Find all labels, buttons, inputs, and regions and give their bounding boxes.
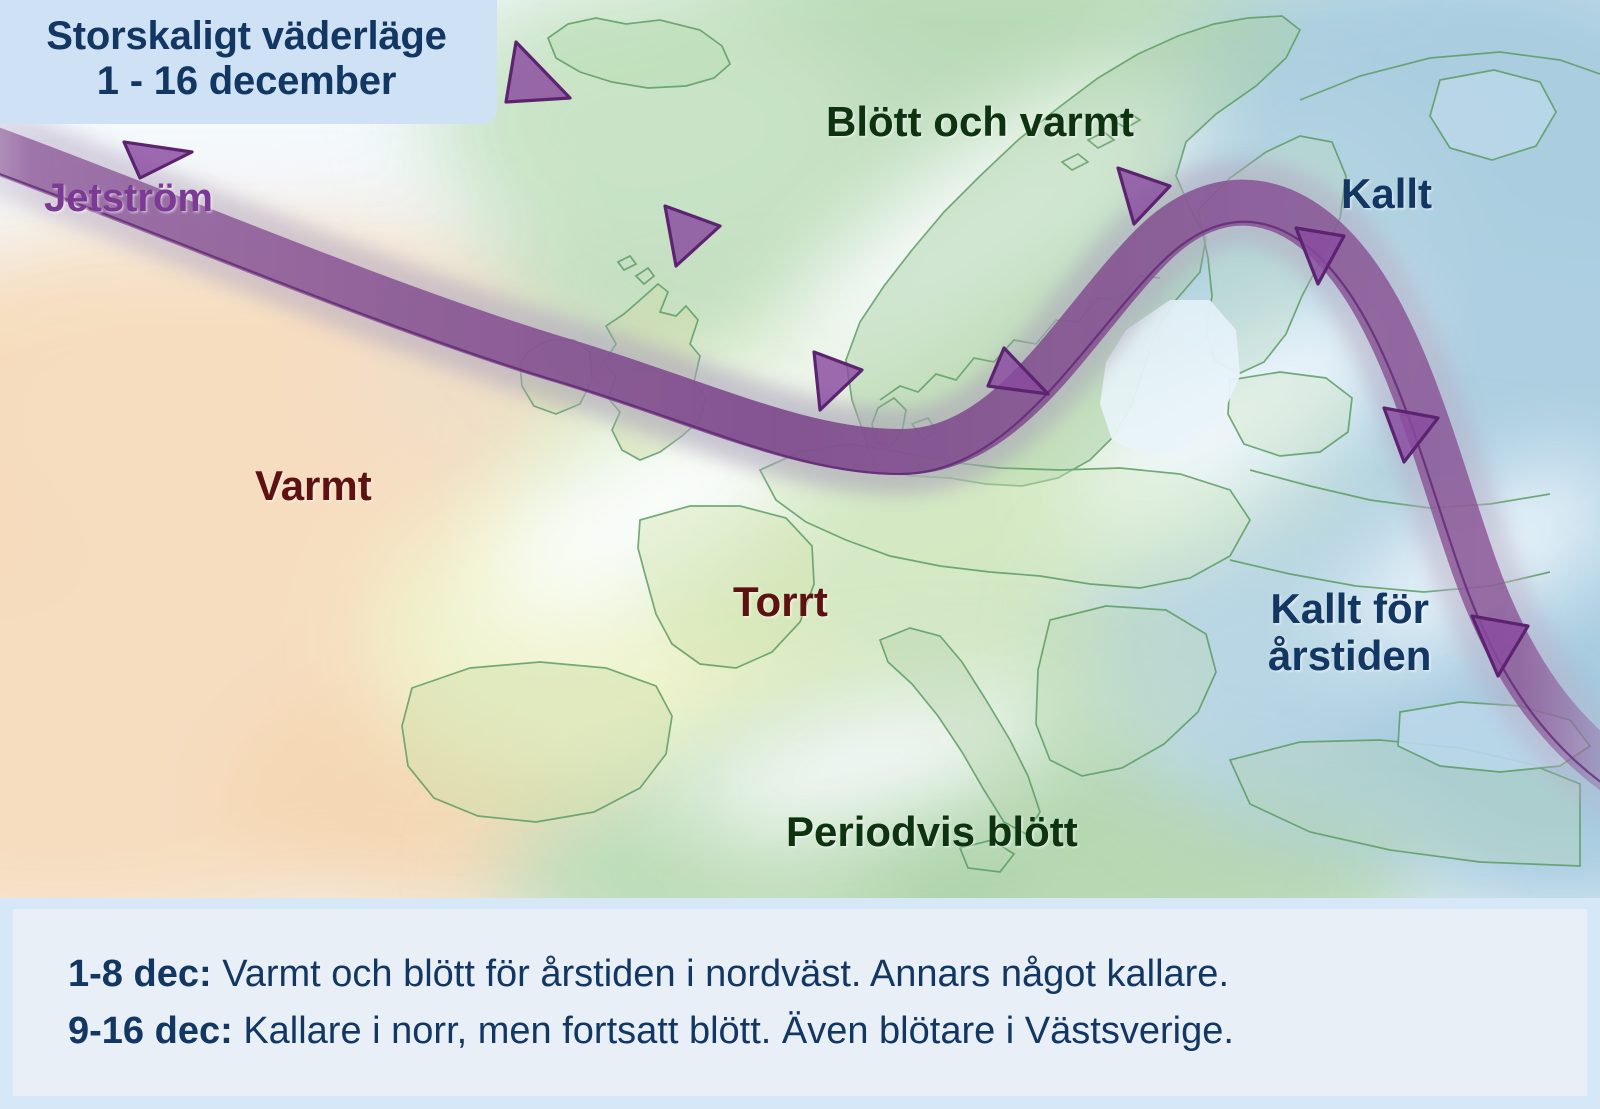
europe-weather-map: Jetström Blött och varmt Kallt Varmt Tor…: [0, 0, 1600, 898]
summary-panel-inner: 1-8 dec: Varmt och blött för årstiden i …: [13, 909, 1587, 1096]
map-label-wet-and-warm: Blött och varmt: [826, 98, 1134, 146]
map-label-periodically-wet: Periodvis blött: [786, 808, 1078, 856]
map-label-dry: Torrt: [733, 578, 828, 626]
map-label-jetstream: Jetström: [44, 176, 213, 221]
summary-panel: 1-8 dec: Varmt och blött för årstiden i …: [0, 898, 1600, 1109]
map-label-warm: Varmt: [255, 462, 372, 510]
summary-row-1: 1-8 dec: Varmt och blött för årstiden i …: [68, 946, 1587, 1002]
baltic-states-outline: [1228, 372, 1352, 456]
title-box: Storskaligt väderläge 1 - 16 december: [0, 0, 497, 124]
map-label-cold: Kallt: [1341, 170, 1432, 218]
summary-row-2: 9-16 dec: Kallare i norr, men fortsatt b…: [68, 1003, 1587, 1059]
summary-row-1-label: 1-8 dec:: [68, 953, 212, 995]
map-label-cold-for-season-line2: årstiden: [1268, 632, 1431, 679]
page-title-line1: Storskaligt väderläge: [22, 14, 471, 59]
summary-row-2-label: 9-16 dec:: [68, 1010, 233, 1052]
map-label-cold-for-season: Kallt för årstiden: [1268, 585, 1431, 679]
weather-outlook-graphic: Jetström Blött och varmt Kallt Varmt Tor…: [0, 0, 1600, 1109]
page-title-line2: 1 - 16 december: [22, 59, 471, 104]
map-svg: [0, 0, 1600, 898]
map-label-cold-for-season-line1: Kallt för: [1268, 585, 1431, 632]
summary-row-2-text: Kallare i norr, men fortsatt blött. Även…: [243, 1010, 1234, 1052]
summary-row-1-text: Varmt och blött för årstiden i nordväst.…: [222, 953, 1229, 995]
